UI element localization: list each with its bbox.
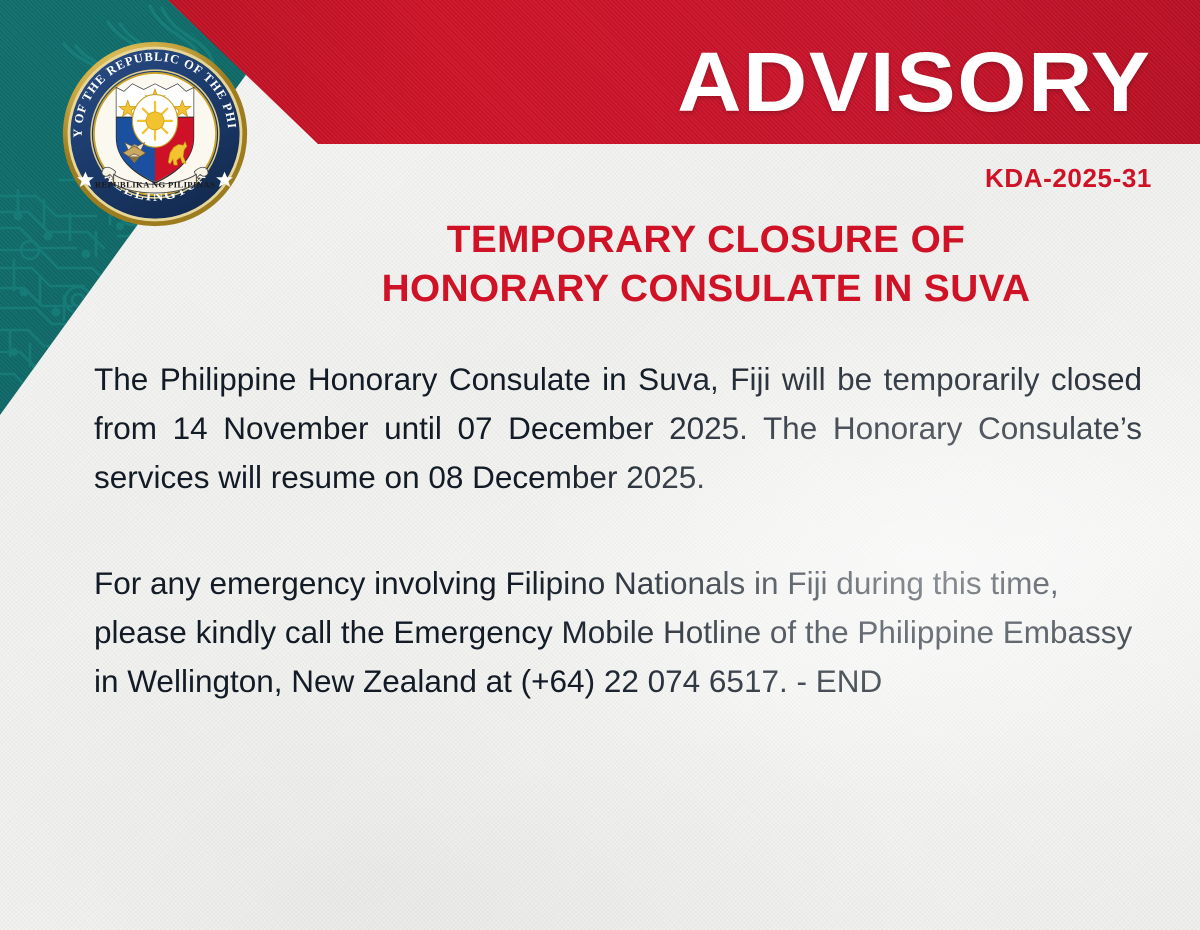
headline-line-1: TEMPORARY CLOSURE OF bbox=[251, 216, 1161, 265]
advisory-headline: TEMPORARY CLOSURE OF HONORARY CONSULATE … bbox=[260, 216, 1152, 313]
headline-line-2: HONORARY CONSULATE IN SUVA bbox=[251, 265, 1161, 314]
advisory-paragraph-1: The Philippine Honorary Consulate in Suv… bbox=[94, 355, 1142, 501]
philippine-embassy-seal-icon: EMBASSY OF THE REPUBLIC OF THE PHILIPPIN… bbox=[61, 40, 249, 228]
advisory-poster: EMBASSY OF THE REPUBLIC OF THE PHILIPPIN… bbox=[0, 0, 1200, 930]
seal-scroll-text: REPUBLIKA NG PILIPINAS bbox=[95, 180, 215, 190]
advisory-banner-title: ADVISORY bbox=[678, 40, 1152, 124]
advisory-paragraph-2: For any emergency involving Filipino Nat… bbox=[94, 559, 1142, 705]
advisory-reference-code: KDA-2025-31 bbox=[985, 163, 1152, 194]
advisory-body: The Philippine Honorary Consulate in Suv… bbox=[94, 355, 1142, 706]
